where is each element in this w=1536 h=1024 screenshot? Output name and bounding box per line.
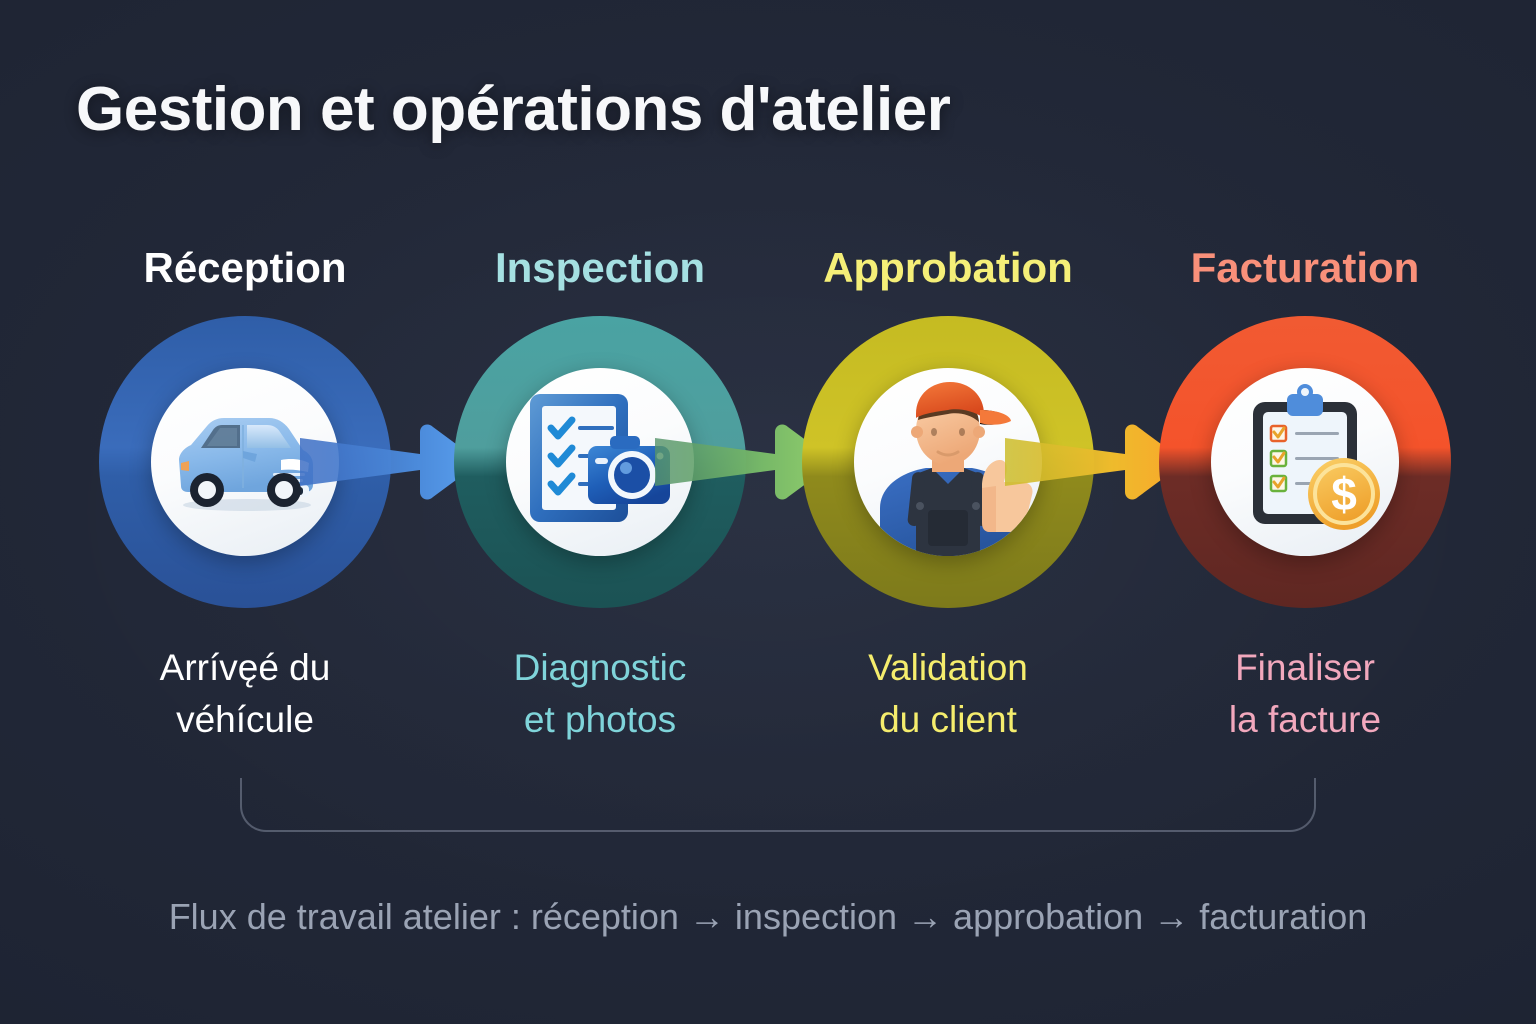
step-caption-reception-line2: véhícule xyxy=(65,694,425,746)
step-caption-approbation-line2: du client xyxy=(768,694,1128,746)
step-caption-inspection: Diagnostic et photos xyxy=(420,642,780,746)
infographic-canvas: Gestion et opérations d'atelier Réceptio… xyxy=(0,0,1536,1024)
workflow-bracket xyxy=(240,778,1316,832)
step-caption-reception: Arrívęé du véhícule xyxy=(65,642,425,746)
step-label-inspection: Inspection xyxy=(420,244,780,292)
page-title: Gestion et opérations d'atelier xyxy=(76,74,950,145)
step-caption-approbation-line1: Validation xyxy=(768,642,1128,694)
step-label-approbation: Approbation xyxy=(768,244,1128,292)
invoice-coin-icon: $ xyxy=(1211,368,1399,556)
step-caption-inspection-line1: Diagnostic xyxy=(420,642,780,694)
step-caption-approbation: Validation du client xyxy=(768,642,1128,746)
workflow-summary-caption: Flux de travail atelier : réception → in… xyxy=(0,896,1536,938)
step-node-facturation[interactable]: $ xyxy=(1159,316,1451,608)
step-caption-reception-line1: Arrívęé du xyxy=(65,642,425,694)
step-caption-facturation: Finaliser la facture xyxy=(1125,642,1485,746)
step-icon-circle-facturation: $ xyxy=(1211,368,1399,556)
step-caption-facturation-line1: Finaliser xyxy=(1125,642,1485,694)
step-label-reception: Réception xyxy=(65,244,425,292)
step-caption-facturation-line2: la facture xyxy=(1125,694,1485,746)
svg-text:$: $ xyxy=(1331,468,1357,520)
step-label-facturation: Facturation xyxy=(1125,244,1485,292)
step-caption-inspection-line2: et photos xyxy=(420,694,780,746)
